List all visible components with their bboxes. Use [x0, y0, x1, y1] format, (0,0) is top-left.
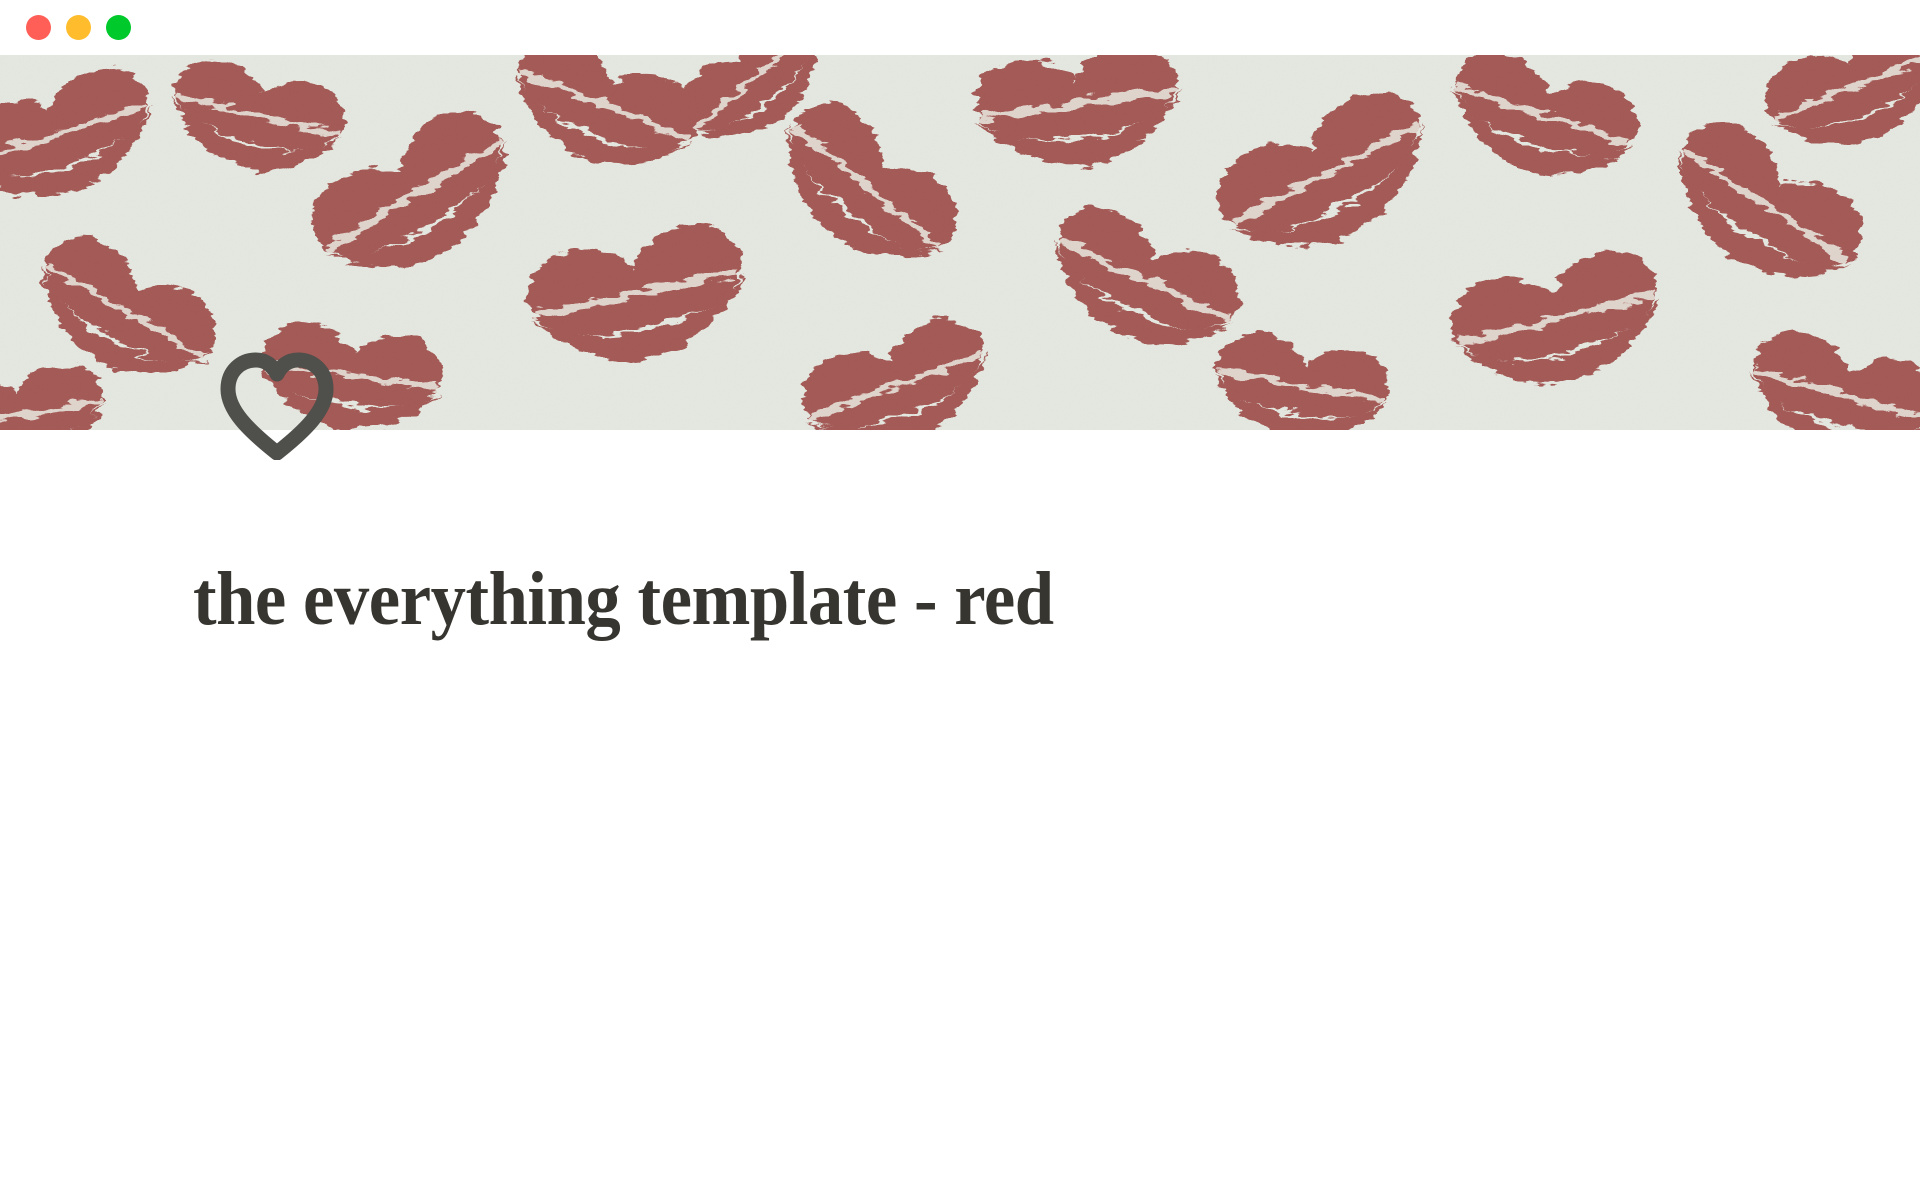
maximize-window-button[interactable] — [106, 15, 131, 40]
window-title-bar — [0, 0, 1920, 55]
heart-icon[interactable] — [218, 352, 336, 460]
close-window-button[interactable] — [26, 15, 51, 40]
page-title[interactable]: the everything template - red — [193, 560, 1054, 640]
traffic-lights — [26, 15, 131, 40]
minimize-window-button[interactable] — [66, 15, 91, 40]
